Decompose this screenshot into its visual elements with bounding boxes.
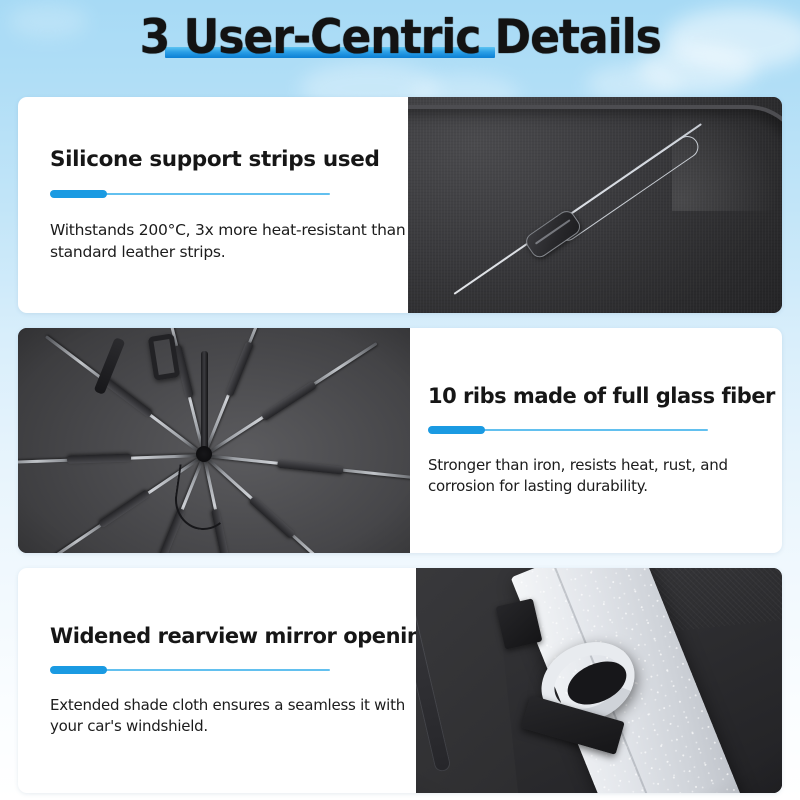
- feature-card-2-divider: [428, 426, 713, 434]
- feature-card-2-text: 10 ribs made of full glass fiber Stronge…: [410, 328, 782, 553]
- feature-card-1-text: Silicone support strips used Withstands …: [18, 97, 408, 313]
- divider-thick-bar: [50, 190, 107, 198]
- mirror-opening-image: [416, 568, 782, 793]
- feature-card-3-divider: [50, 666, 335, 674]
- page-title: 3 User-Centric Details: [139, 14, 660, 61]
- feature-card-3: Widened rearview mirror opening Extended…: [18, 568, 782, 793]
- feature-card-2-body: Stronger than iron, resists heat, rust, …: [428, 455, 782, 498]
- photo-vignette: [18, 328, 410, 553]
- umbrella-ribs-image: [18, 328, 410, 553]
- title-wrap: 3 User-Centric Details: [123, 14, 677, 61]
- feature-card-3-photo: [416, 568, 782, 793]
- feature-card-1-heading: Silicone support strips used: [50, 147, 408, 172]
- divider-thick-bar: [50, 666, 107, 674]
- feature-card-3-heading: Widened rearview mirror opening: [50, 624, 416, 648]
- feature-card-1-divider: [50, 190, 335, 198]
- divider-thick-bar: [428, 426, 485, 434]
- feature-card-2-heading: 10 ribs made of full glass fiber: [428, 384, 782, 408]
- divider-thin-line: [478, 429, 708, 431]
- divider-thin-line: [100, 193, 330, 195]
- feature-card-1-photo: [408, 97, 782, 313]
- sunshade-corner-image: [408, 97, 782, 313]
- feature-card-1-body: Withstands 200°C, 3x more heat-resistant…: [50, 219, 408, 263]
- divider-thin-line: [100, 669, 330, 671]
- feature-card-3-body: Extended shade cloth ensures a seamless …: [50, 695, 416, 738]
- feature-card-2-photo: [18, 328, 410, 553]
- photo-vignette: [416, 568, 782, 793]
- feature-card-2: 10 ribs made of full glass fiber Stronge…: [18, 328, 782, 553]
- feature-card-3-text: Widened rearview mirror opening Extended…: [18, 568, 416, 793]
- page-header: 3 User-Centric Details: [0, 14, 800, 84]
- feature-card-1: Silicone support strips used Withstands …: [18, 97, 782, 313]
